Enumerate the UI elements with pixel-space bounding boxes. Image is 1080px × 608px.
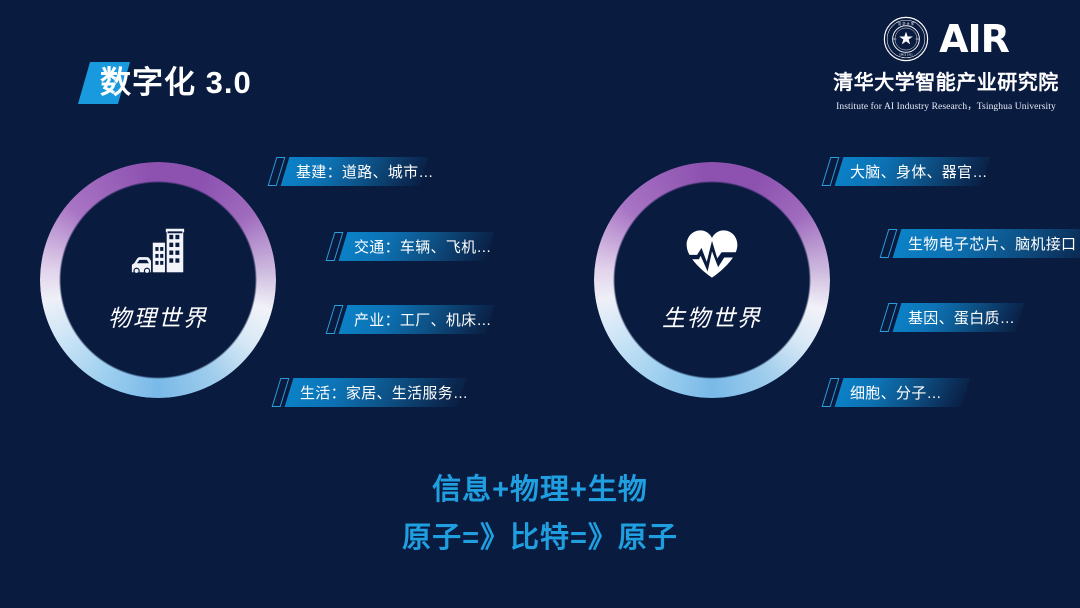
title-label: 数字化 3.0 bbox=[100, 60, 252, 106]
tag-label: 生物电子芯片、脑机接口 … bbox=[884, 233, 1080, 254]
tag-biological-1[interactable]: 大脑、身体、器官… bbox=[826, 157, 986, 186]
svg-text:清 华 大 学: 清 华 大 学 bbox=[898, 21, 915, 26]
organization-logo: 清 华 大 学 SINCE 1911 AIR 清华大学智能产业研究院 Insti… bbox=[826, 14, 1066, 112]
logo-chinese-name: 清华大学智能产业研究院 bbox=[826, 66, 1066, 95]
tag-biological-2[interactable]: 生物电子芯片、脑机接口 … bbox=[884, 229, 1080, 258]
footer-line-2: 原子=》比特=》原子 bbox=[0, 514, 1080, 562]
tag-label: 生活：家居、生活服务… bbox=[276, 382, 468, 403]
tag-biological-4[interactable]: 细胞、分子… bbox=[826, 378, 966, 407]
heart-pulse-icon bbox=[684, 227, 740, 281]
page-title: 数字化 3.0 bbox=[84, 60, 236, 106]
tag-label: 基建：道路、城市… bbox=[272, 161, 434, 182]
logo-top-row: 清 华 大 学 SINCE 1911 AIR bbox=[826, 14, 1066, 64]
tag-label: 大脑、身体、器官… bbox=[826, 161, 988, 182]
logo-wordmark: AIR bbox=[939, 20, 1009, 58]
tag-label: 基因、蛋白质… bbox=[884, 307, 1015, 328]
physical-world-content: 物理世界 bbox=[40, 162, 276, 398]
tag-physical-3[interactable]: 产业：工厂、机床… bbox=[330, 305, 490, 334]
tag-label: 细胞、分子… bbox=[826, 382, 942, 403]
tag-physical-2[interactable]: 交通：车辆、飞机… bbox=[330, 232, 490, 261]
tag-label: 产业：工厂、机床… bbox=[330, 309, 492, 330]
footer-statements: 信息+物理+生物 原子=》比特=》原子 bbox=[0, 466, 1080, 562]
slide-canvas: 数字化 3.0 清 华 大 学 SINCE 1911 AIR 清华大学智能产业研… bbox=[0, 0, 1080, 608]
biological-world-label: 生物世界 bbox=[662, 299, 762, 333]
tag-biological-3[interactable]: 基因、蛋白质… bbox=[884, 303, 1020, 332]
car-buildings-icon bbox=[130, 227, 186, 281]
physical-world-label: 物理世界 bbox=[108, 299, 208, 333]
tag-physical-1[interactable]: 基建：道路、城市… bbox=[272, 157, 424, 186]
tag-label: 交通：车辆、飞机… bbox=[330, 236, 492, 257]
tsinghua-seal-icon: 清 华 大 学 SINCE 1911 bbox=[883, 16, 929, 62]
svg-text:SINCE 1911: SINCE 1911 bbox=[899, 54, 913, 57]
tag-physical-4[interactable]: 生活：家居、生活服务… bbox=[276, 378, 462, 407]
logo-english-name: Institute for AI Industry Research，Tsing… bbox=[826, 98, 1066, 112]
biological-world-content: 生物世界 bbox=[594, 162, 830, 398]
footer-line-1: 信息+物理+生物 bbox=[0, 466, 1080, 514]
